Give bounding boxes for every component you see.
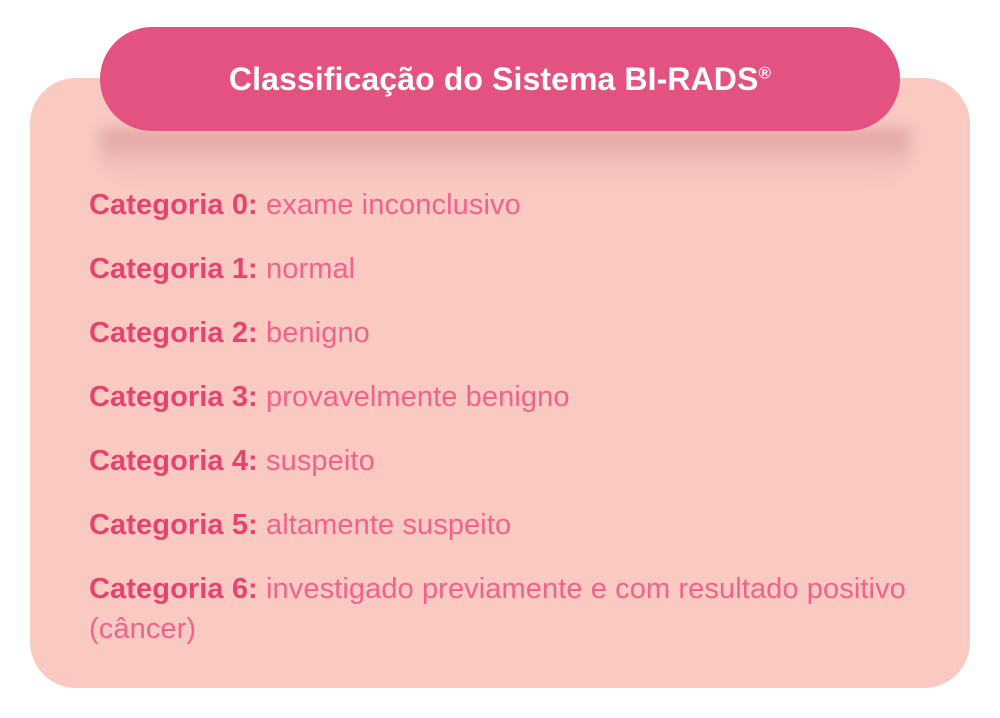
category-label: Categoria 4: — [89, 445, 258, 477]
category-description: normal — [266, 253, 355, 285]
list-item: Categoria 1: normal — [89, 249, 919, 289]
birads-classification-infographic: Classificação do Sistema BI-RADS® Catego… — [0, 0, 1000, 718]
list-item: Categoria 4: suspeito — [89, 441, 919, 481]
page-title-text: Classificação do Sistema BI-RADS — [229, 61, 759, 97]
registered-trademark-icon: ® — [758, 63, 771, 82]
list-item: Categoria 6: investigado previamente e c… — [89, 569, 919, 649]
category-list: Categoria 0: exame inconclusivo Categori… — [89, 185, 919, 649]
category-label: Categoria 6: — [89, 573, 258, 605]
category-description: benigno — [266, 317, 370, 349]
category-description: suspeito — [266, 445, 375, 477]
category-label: Categoria 1: — [89, 253, 258, 285]
category-label: Categoria 0: — [89, 189, 258, 221]
header-pill-shadow — [100, 130, 910, 186]
list-item: Categoria 2: benigno — [89, 313, 919, 353]
header-pill: Classificação do Sistema BI-RADS® — [100, 27, 900, 131]
category-description: provavelmente benigno — [266, 381, 570, 413]
list-item: Categoria 0: exame inconclusivo — [89, 185, 919, 225]
page-title: Classificação do Sistema BI-RADS® — [229, 63, 771, 95]
category-description: exame inconclusivo — [266, 189, 521, 221]
category-label: Categoria 5: — [89, 509, 258, 541]
list-item: Categoria 5: altamente suspeito — [89, 505, 919, 545]
category-label: Categoria 2: — [89, 317, 258, 349]
list-item: Categoria 3: provavelmente benigno — [89, 377, 919, 417]
category-label: Categoria 3: — [89, 381, 258, 413]
category-description: altamente suspeito — [266, 509, 511, 541]
